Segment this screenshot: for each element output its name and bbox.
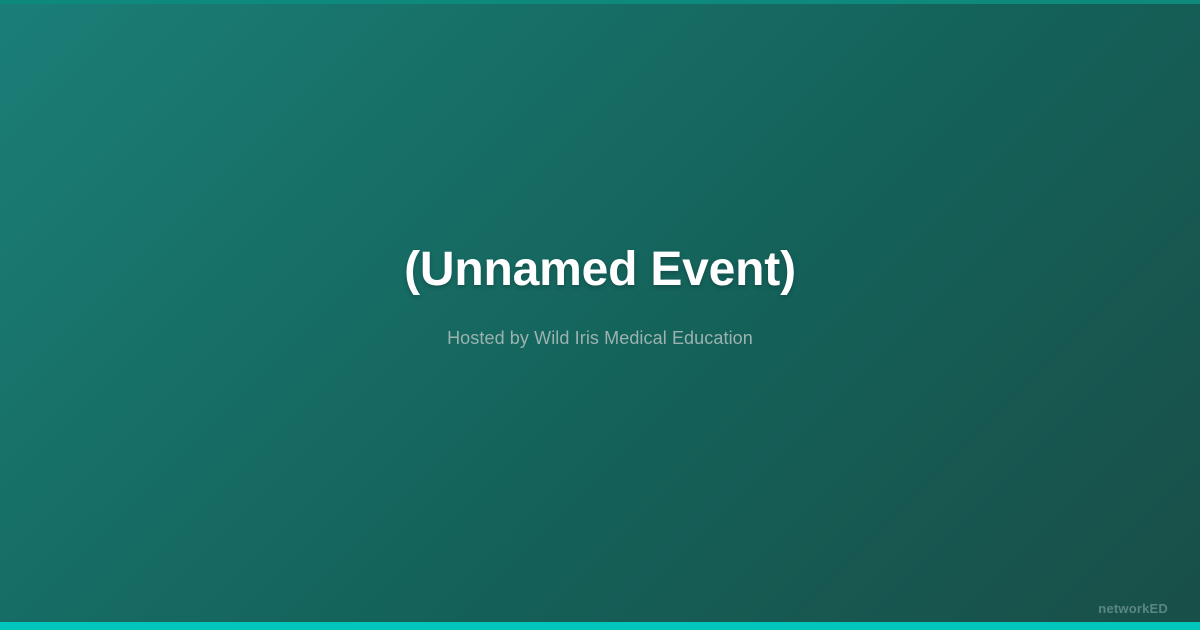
event-share-card: (Unnamed Event) Hosted by Wild Iris Medi…: [0, 0, 1200, 630]
networked-watermark: networkED: [1098, 601, 1168, 616]
card-content: (Unnamed Event) Hosted by Wild Iris Medi…: [80, 243, 1120, 350]
top-accent-bar: [0, 0, 1200, 4]
event-host-line: Hosted by Wild Iris Medical Education: [80, 327, 1120, 350]
event-title: (Unnamed Event): [80, 243, 1120, 297]
bottom-accent-bar: [0, 622, 1200, 630]
